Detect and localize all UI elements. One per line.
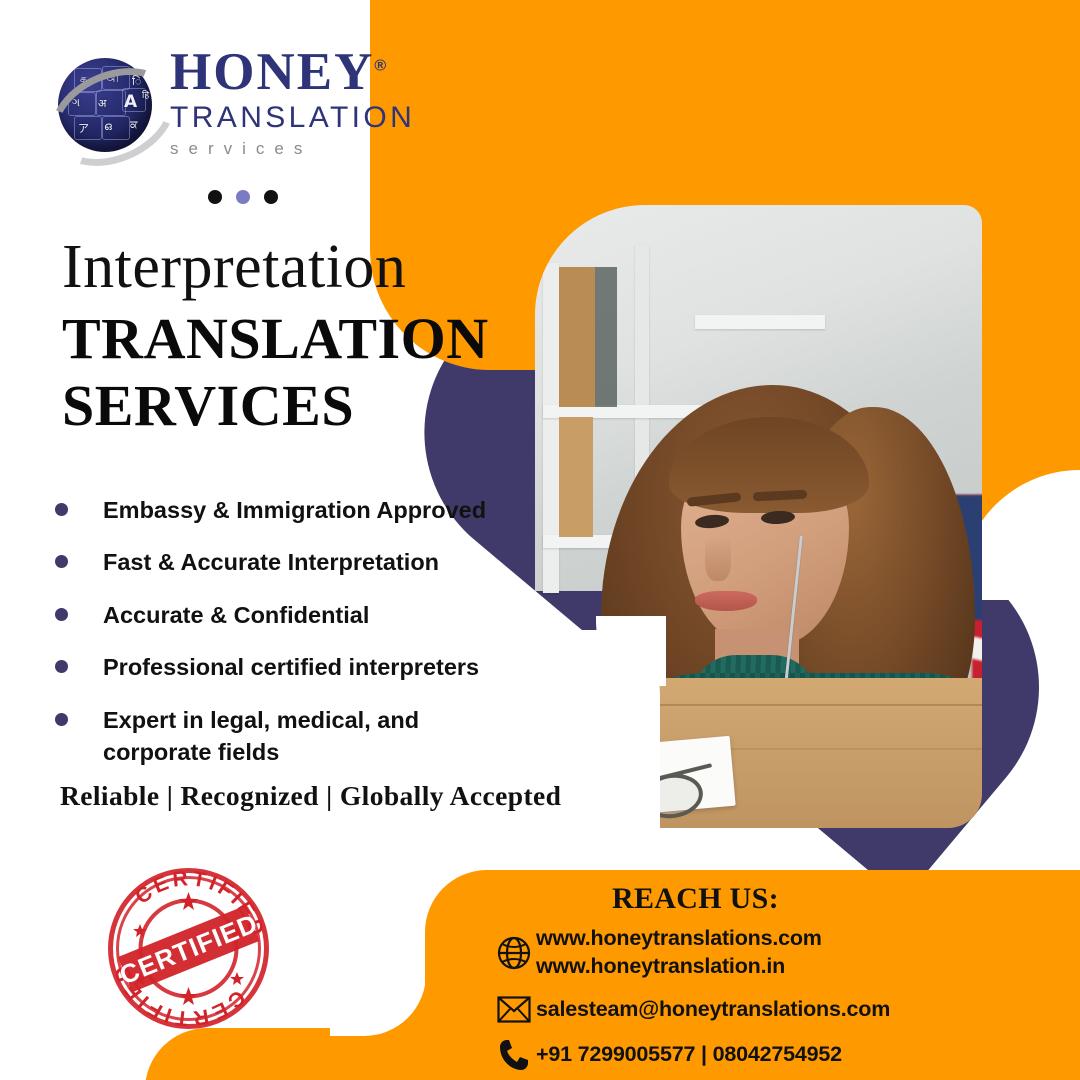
dot-separator [208,190,278,204]
contact-text-website: www.honeytranslations.com www.honeytrans… [536,925,822,980]
list-item: Fast & Accurate Interpretation [55,546,535,578]
shelf-part [695,315,825,329]
dot-2 [236,190,250,204]
contact-heading: REACH US: [612,882,779,916]
book [559,417,593,537]
certified-stamp-graphic: CERTIFIED CERTIFIED CERTIFIED [106,866,271,1031]
lips [695,591,757,611]
headline-main-line-2: SERVICES [62,373,489,440]
logo-name-primary-text: HONEY [170,43,374,101]
bullet-icon [55,660,68,673]
feature-text: Embassy & Immigration Approved [103,494,486,526]
list-item: Embassy & Immigration Approved [55,494,535,526]
globe-orbit-ring [35,49,190,184]
contact-text-phone[interactable]: +91 7299005577 | 08042754952 [536,1041,842,1069]
stamp-diagonal-band: CERTIFIED [114,904,264,994]
logo-name-secondary: TRANSLATION [170,103,415,133]
list-item: Expert in legal, medical, and corporate … [55,704,535,769]
logo-wordmark: HONEY® TRANSLATION services [170,46,415,157]
book [559,267,595,407]
logo-name-primary: HONEY® [170,46,415,99]
poster-canvas: க আ ि ગ अ A हि ア ഒ ਕ HONEY® TRANSLATION … [0,0,1080,1080]
contact-row-email[interactable]: salesteam@honeytranslations.com [492,996,1052,1024]
feature-list: Embassy & Immigration Approved Fast & Ac… [55,494,535,789]
contact-row-phone[interactable]: +91 7299005577 | 08042754952 [492,1038,1052,1072]
feature-text: Fast & Accurate Interpretation [103,546,439,578]
contact-text-email[interactable]: salesteam@honeytranslations.com [536,996,890,1024]
dot-3 [264,190,278,204]
website-line-2[interactable]: www.honeytranslation.in [536,953,822,981]
phone-icon [492,1038,536,1072]
globe-icon [492,936,536,970]
website-line-1[interactable]: www.honeytranslations.com [536,925,822,953]
contact-list: www.honeytranslations.com www.honeytrans… [492,925,1052,1080]
globe-icon: க আ ि ગ अ A हि ア ഒ ਕ [52,52,162,162]
feature-text: Expert in legal, medical, and corporate … [103,704,443,769]
registered-mark-icon: ® [374,57,388,74]
list-item: Professional certified interpreters [55,651,535,683]
headline-main: TRANSLATION SERVICES [62,306,489,439]
company-logo[interactable]: க আ ि ગ अ A हि ア ഒ ਕ HONEY® TRANSLATION … [52,46,452,176]
bullet-icon [55,713,68,726]
feature-text: Accurate & Confidential [103,599,369,631]
contact-row-website[interactable]: www.honeytranslations.com www.honeytrans… [492,925,1052,980]
list-item: Accurate & Confidential [55,599,535,631]
feature-text: Professional certified interpreters [103,651,479,683]
dot-1 [208,190,222,204]
nose [705,537,731,581]
logo-name-tertiary: services [170,140,415,157]
certified-stamp: CERTIFIED CERTIFIED CERTIFIED [106,866,271,1031]
envelope-icon [492,996,536,1023]
tagline: Reliable | Recognized | Globally Accepte… [60,780,561,812]
bullet-icon [55,608,68,621]
headline-main-line-1: TRANSLATION [62,306,489,373]
headline-script: Interpretation [62,236,406,298]
bullet-icon [55,555,68,568]
bullet-icon [55,503,68,516]
